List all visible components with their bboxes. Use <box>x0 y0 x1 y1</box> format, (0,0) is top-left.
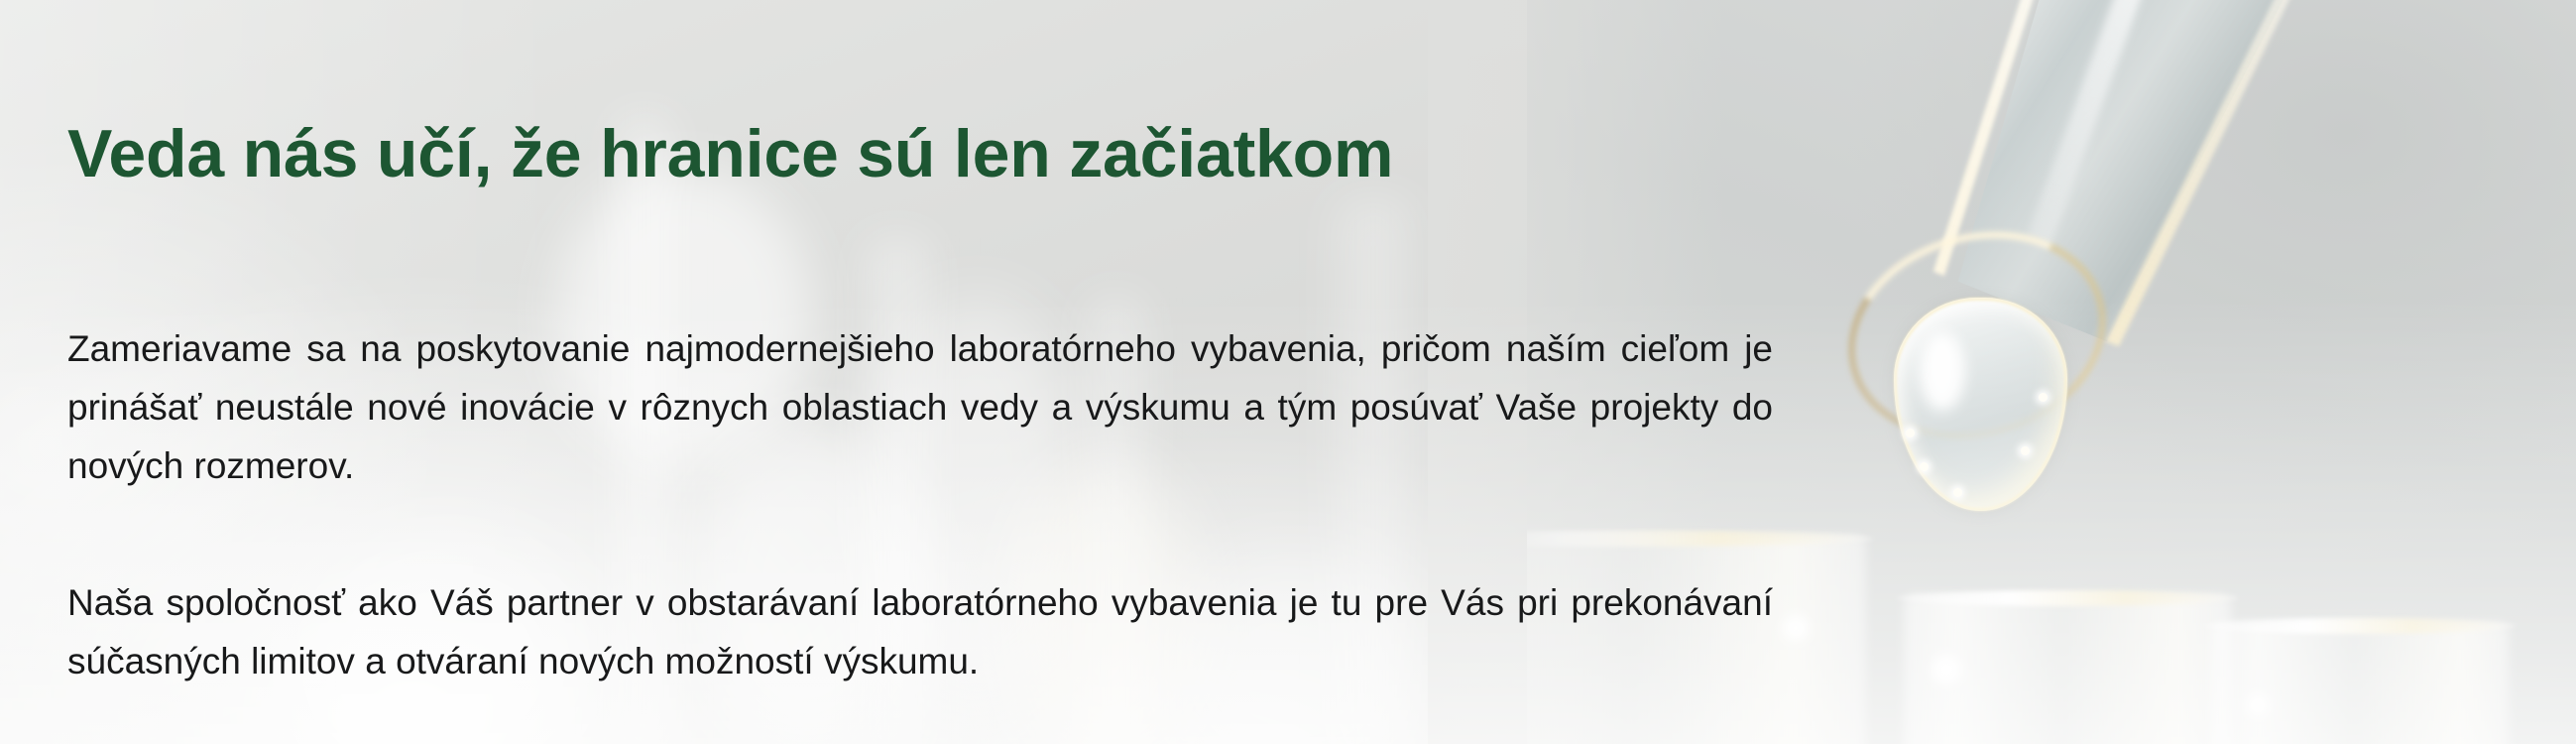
intro-paragraph-2: Naša spoločnosť ako Váš partner v obstar… <box>67 573 1773 690</box>
paragraph-text: Naša spoločnosť ako Váš partner v obstar… <box>67 573 1773 690</box>
hero-banner: Veda nás učí, že hranice sú len začiatko… <box>0 0 2576 744</box>
banner-content: Veda nás učí, že hranice sú len začiatko… <box>0 0 1815 744</box>
intro-paragraph-1: Zameriavame sa na poskytovanie najmodern… <box>67 319 1773 495</box>
paragraph-text: Zameriavame sa na poskytovanie najmodern… <box>67 319 1773 495</box>
page-title: Veda nás učí, že hranice sú len začiatko… <box>67 117 1753 191</box>
